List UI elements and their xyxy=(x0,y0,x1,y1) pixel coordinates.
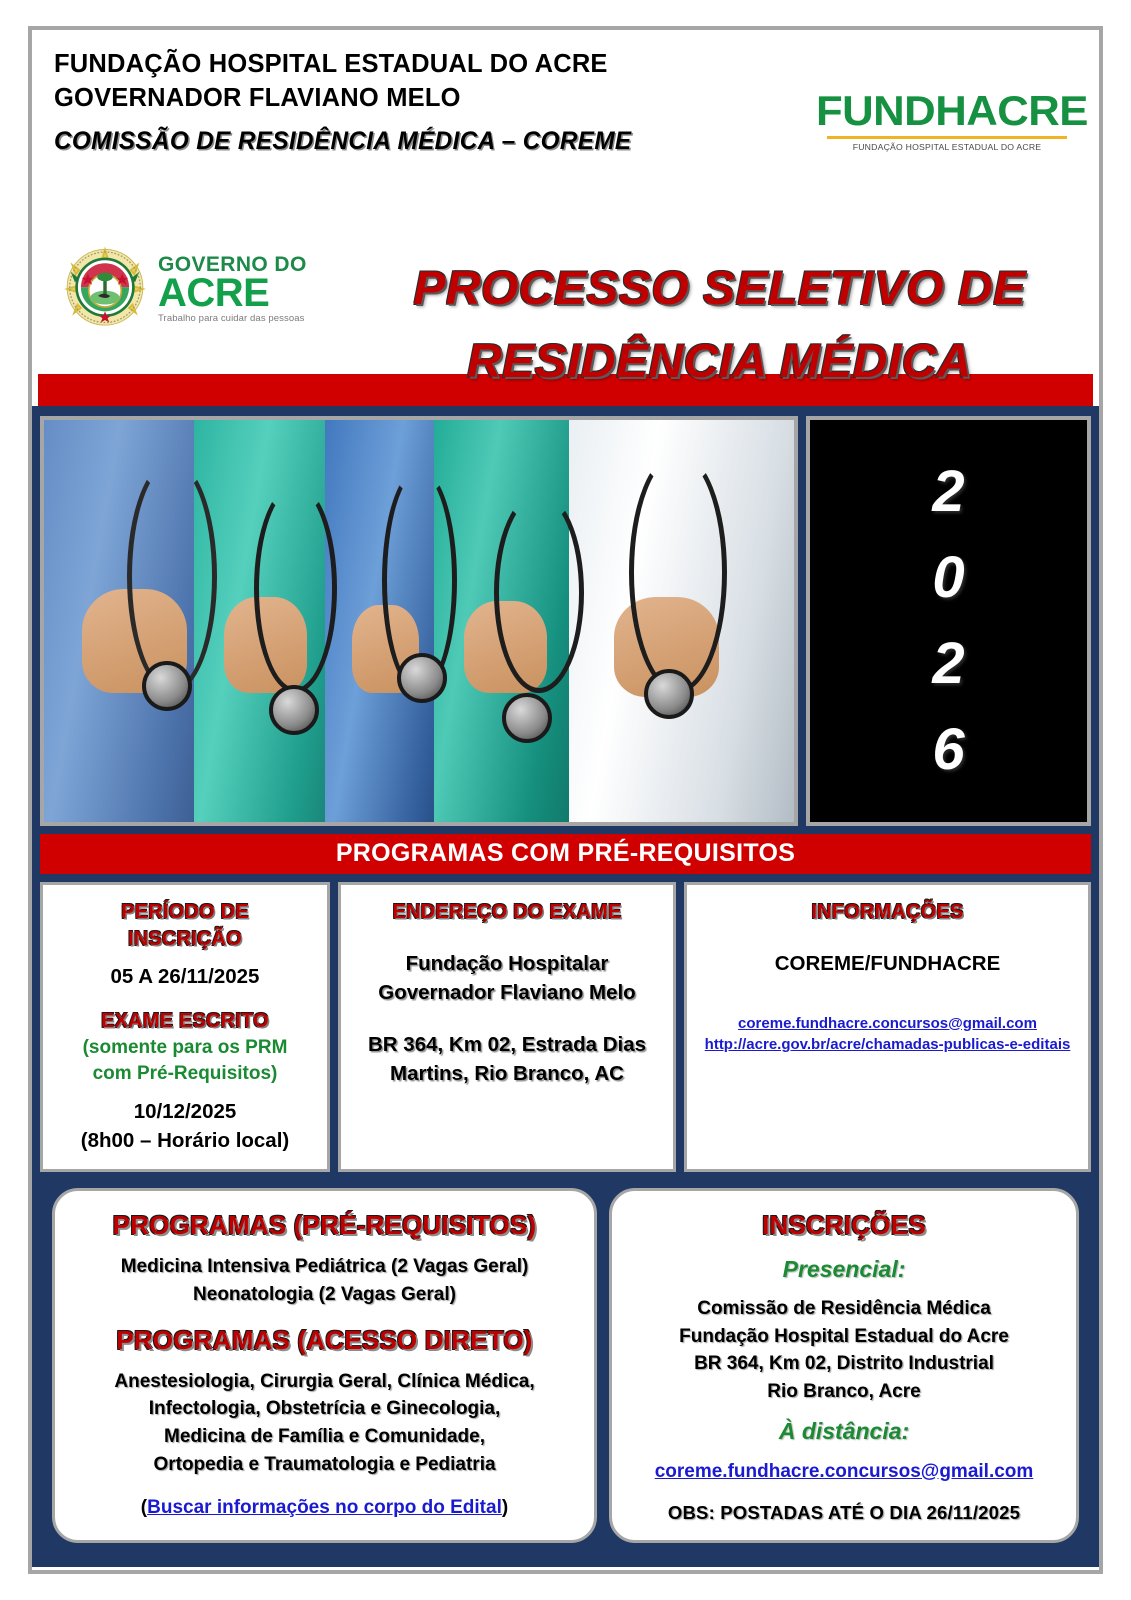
stethoscope-chestpiece-3 xyxy=(397,653,447,703)
stethoscope-icon-4 xyxy=(494,492,584,693)
spacer xyxy=(53,953,317,963)
bottom-boxes-row: PROGRAMAS (PRÉ-REQUISITOS) Medicina Inte… xyxy=(40,1172,1091,1557)
spacer xyxy=(53,1088,317,1098)
remote-email-link[interactable]: coreme.fundhacre.concursos@gmail.com xyxy=(626,1458,1062,1487)
acre-coat-of-arms-icon xyxy=(62,246,148,332)
page-title-line2: RESIDÊNCIA MÉDICA xyxy=(355,325,1084,398)
edital-line: (Buscar informações no corpo do Edital) xyxy=(69,1494,580,1523)
year-digit-4: 6 xyxy=(932,721,964,779)
gov-logo-tagline: Trabalho para cuidar das pessoas xyxy=(158,314,307,324)
in-person-line: Rio Branco, Acre xyxy=(626,1378,1062,1406)
spacer xyxy=(626,1243,1062,1253)
in-person-line: Fundação Hospital Estadual do Acre xyxy=(626,1323,1062,1351)
edital-link[interactable]: Buscar informações no corpo do Edital xyxy=(147,1497,502,1518)
page-title: PROCESSO SELETIVO DE RESIDÊNCIA MÉDICA xyxy=(362,252,1077,398)
stethoscope-chestpiece-5 xyxy=(644,669,694,719)
stethoscope-chestpiece-1 xyxy=(142,661,192,711)
period-dates: 05 A 26/11/2025 xyxy=(53,963,317,992)
in-person-line: BR 364, Km 02, Distrito Industrial xyxy=(626,1350,1062,1378)
direct-program-item: Anestesiologia, Cirurgia Geral, Clínica … xyxy=(69,1368,580,1396)
spacer xyxy=(351,926,663,950)
stethoscope-icon-1 xyxy=(127,460,217,693)
direct-program-item: Medicina de Família e Comunidade, xyxy=(69,1423,580,1451)
media-row: 2 0 2 6 xyxy=(40,416,1091,826)
gov-logo-line2: ACRE xyxy=(158,273,307,313)
poster-frame: FUNDAÇÃO HOSPITAL ESTADUAL DO ACRE GOVER… xyxy=(28,26,1103,1574)
spacer xyxy=(53,992,317,1008)
registration-note: OBS: POSTADAS ATÉ O DIA 26/11/2025 xyxy=(626,1502,1062,1524)
doctors-photo xyxy=(40,416,798,826)
prereq-program-item: Neonatologia (2 Vagas Geral) xyxy=(69,1281,580,1309)
stethoscope-chestpiece-4 xyxy=(502,693,552,743)
spacer xyxy=(626,1405,1062,1415)
direct-program-item: Infectologia, Obstetrícia e Ginecologia, xyxy=(69,1395,580,1423)
address-line4: Martins, Rio Branco, AC xyxy=(351,1060,663,1089)
period-heading-line2: INSCRIÇÃO xyxy=(53,926,317,953)
direct-program-item: Ortopedia e Traumatologia e Pediatria xyxy=(69,1451,580,1479)
information-email-link[interactable]: coreme.fundhacre.concursos@gmail.com xyxy=(697,1013,1078,1035)
fundhacre-logo: FUNDHACRE FUNDAÇÃO HOSPITAL ESTADUAL DO … xyxy=(821,90,1073,152)
year-panel: 2 0 2 6 xyxy=(806,416,1091,826)
exam-time: (8h00 – Horário local) xyxy=(53,1127,317,1156)
information-box: INFORMAÇÕES COREME/FUNDHACRE coreme.fund… xyxy=(684,882,1091,1172)
page-title-line1: PROCESSO SELETIVO DE xyxy=(355,252,1084,325)
information-entity: COREME/FUNDHACRE xyxy=(697,950,1078,979)
exam-address-box: ENDEREÇO DO EXAME Fundação Hospitalar Go… xyxy=(338,882,676,1172)
information-url-link[interactable]: http://acre.gov.br/acre/chamadas-publica… xyxy=(697,1034,1078,1056)
year-digit-1: 2 xyxy=(932,463,964,521)
poster-header: FUNDAÇÃO HOSPITAL ESTADUAL DO ACRE GOVER… xyxy=(32,30,1099,374)
stethoscope-chestpiece-2 xyxy=(269,685,319,735)
address-line1: Fundação Hospitalar xyxy=(351,950,663,979)
year-digit-3: 2 xyxy=(932,635,964,693)
spacer xyxy=(626,1285,1062,1295)
organization-name-line1: FUNDAÇÃO HOSPITAL ESTADUAL DO ACRE xyxy=(54,48,1083,82)
spacer xyxy=(69,1358,580,1368)
exam-note-line1: (somente para os PRM xyxy=(53,1035,317,1062)
address-heading: ENDEREÇO DO EXAME xyxy=(351,899,663,926)
prereq-programs-heading: PROGRAMAS (PRÉ-REQUISITOS) xyxy=(69,1209,580,1243)
in-person-label: Presencial: xyxy=(626,1253,1062,1285)
governo-do-acre-wordmark: GOVERNO DO ACRE Trabalho para cuidar das… xyxy=(158,254,307,324)
registration-period-box: PERÍODO DE INSCRIÇÃO 05 A 26/11/2025 EXA… xyxy=(40,882,330,1172)
spacer xyxy=(697,979,1078,1003)
spacer xyxy=(626,1486,1062,1502)
info-boxes-row: PERÍODO DE INSCRIÇÃO 05 A 26/11/2025 EXA… xyxy=(40,874,1091,1172)
exam-note-line2: com Pré-Requisitos) xyxy=(53,1061,317,1088)
spacer xyxy=(697,926,1078,950)
registration-heading: INSCRIÇÕES xyxy=(626,1209,1062,1243)
spacer xyxy=(69,1478,580,1494)
period-heading-line1: PERÍODO DE xyxy=(53,899,317,926)
fundhacre-logo-wordmark: FUNDHACRE xyxy=(816,90,1078,132)
fundhacre-logo-rule xyxy=(827,136,1067,139)
stethoscope-icon-5 xyxy=(629,452,727,693)
exam-date: 10/12/2025 xyxy=(53,1098,317,1127)
programs-box: PROGRAMAS (PRÉ-REQUISITOS) Medicina Inte… xyxy=(52,1188,597,1543)
stethoscope-icon-2 xyxy=(254,484,337,693)
spacer xyxy=(69,1243,580,1253)
spacer xyxy=(626,1448,1062,1458)
in-person-line: Comissão de Residência Médica xyxy=(626,1295,1062,1323)
direct-programs-heading: PROGRAMAS (ACESSO DIRETO) xyxy=(69,1324,580,1358)
prereq-program-item: Medicina Intensiva Pediátrica (2 Vagas G… xyxy=(69,1253,580,1281)
prerequisites-banner: PROGRAMAS COM PRÉ-REQUISITOS xyxy=(40,834,1091,874)
address-line3: BR 364, Km 02, Estrada Dias xyxy=(351,1031,663,1060)
spacer xyxy=(697,1003,1078,1013)
registration-box: INSCRIÇÕES Presencial: Comissão de Resid… xyxy=(609,1188,1079,1543)
remote-label: À distância: xyxy=(626,1415,1062,1447)
year-digit-2: 0 xyxy=(932,549,964,607)
poster-body: 2 0 2 6 PROGRAMAS COM PRÉ-REQUISITOS PER… xyxy=(32,406,1099,1567)
governo-do-acre-logo: GOVERNO DO ACRE Trabalho para cuidar das… xyxy=(62,246,307,332)
exam-heading: EXAME ESCRITO xyxy=(53,1008,317,1035)
address-line2: Governador Flaviano Melo xyxy=(351,979,663,1008)
spacer xyxy=(351,1007,663,1031)
information-heading: INFORMAÇÕES xyxy=(697,899,1078,926)
spacer xyxy=(69,1308,580,1324)
edital-close-paren: ) xyxy=(502,1497,508,1518)
fundhacre-logo-subtitle: FUNDAÇÃO HOSPITAL ESTADUAL DO ACRE xyxy=(818,142,1075,152)
